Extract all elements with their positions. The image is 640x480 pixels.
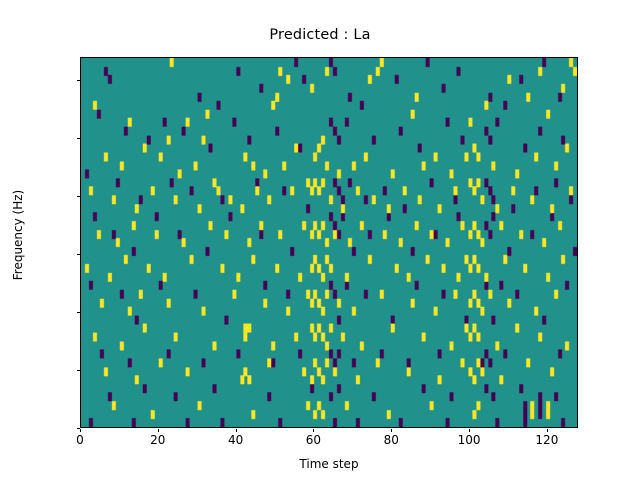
y-axis-label: Frequency (Hz) (11, 45, 25, 425)
x-tick-label: 20 (150, 433, 165, 447)
heatmap-canvas (81, 58, 577, 427)
y-tick-mark (77, 254, 81, 255)
x-tick-mark (236, 429, 237, 433)
heatmap-plot-area (80, 57, 578, 428)
chart-title: Predicted : La (0, 27, 640, 43)
matplotlib-figure: Predicted : La Frequency (Hz) Time step … (0, 0, 640, 480)
x-tick-label: 100 (458, 433, 481, 447)
x-tick-label: 60 (306, 433, 321, 447)
y-tick-mark (77, 312, 81, 313)
x-tick-label: 80 (384, 433, 399, 447)
y-tick-mark (77, 196, 81, 197)
x-tick-mark (80, 429, 81, 433)
x-tick-mark (158, 429, 159, 433)
x-tick-mark (391, 429, 392, 433)
x-tick-mark (313, 429, 314, 433)
y-tick-mark (77, 370, 81, 371)
x-tick-label: 40 (228, 433, 243, 447)
x-tick-mark (469, 429, 470, 433)
x-axis-label: Time step (80, 457, 578, 471)
y-tick-mark (77, 80, 81, 81)
y-tick-mark (77, 138, 81, 139)
x-tick-mark (547, 429, 548, 433)
x-tick-label: 120 (535, 433, 558, 447)
x-tick-label: 0 (76, 433, 84, 447)
